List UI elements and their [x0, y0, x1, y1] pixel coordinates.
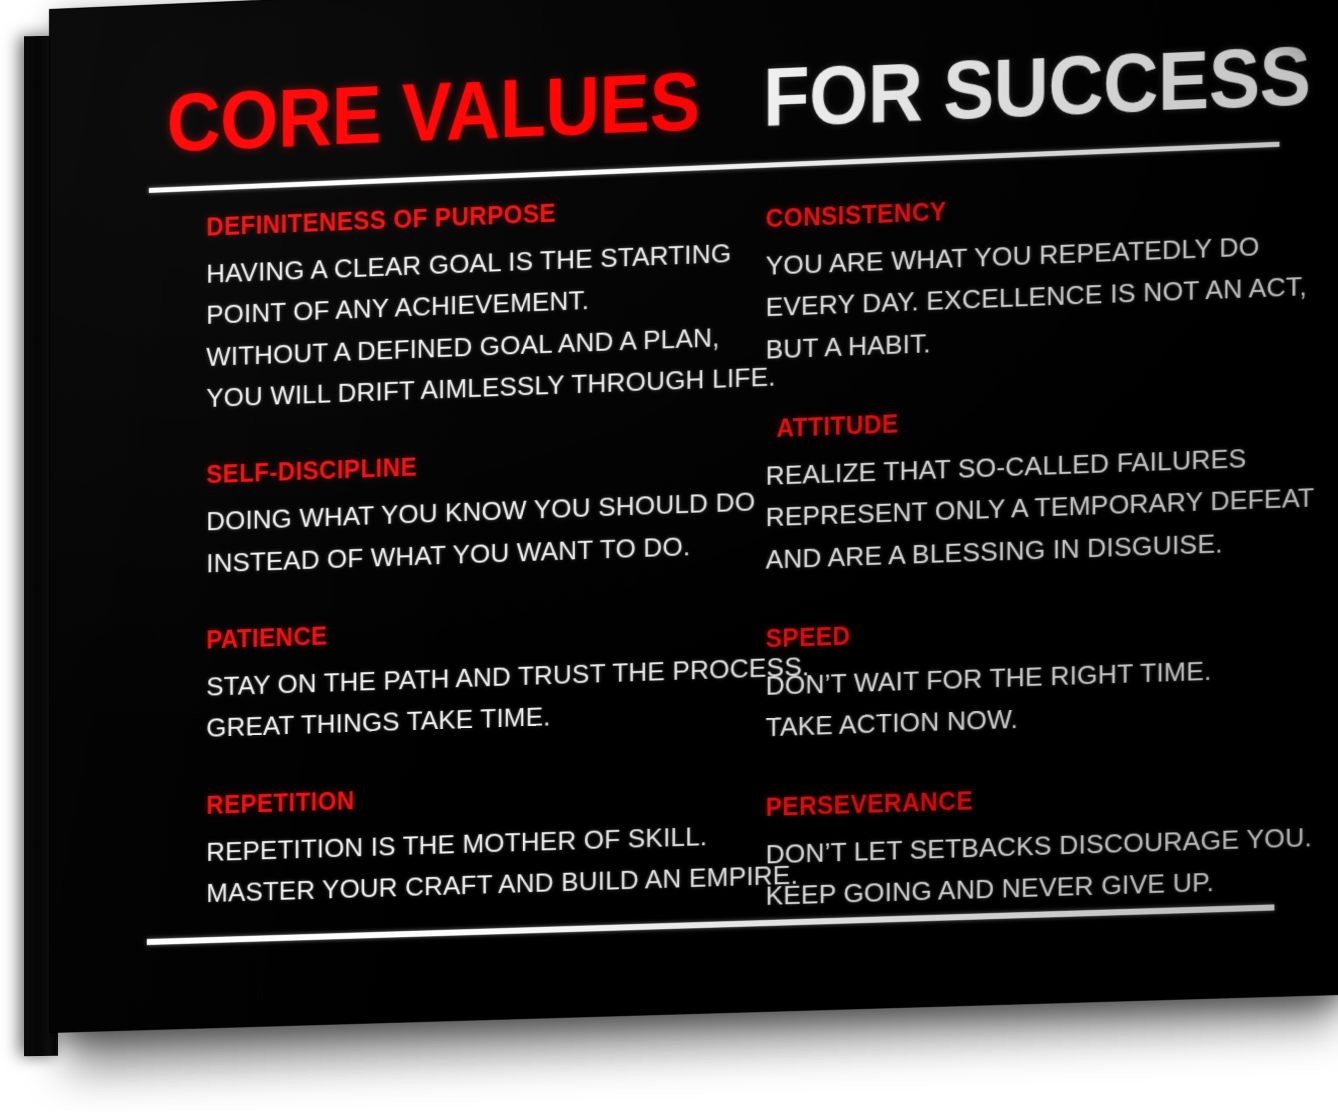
value-heading: PERSEVERANCE: [766, 776, 1295, 822]
value-heading: PATIENCE: [206, 611, 664, 656]
poster-content: CORE VALUESFOR SUCCESS DEFINITENESS OF P…: [50, 0, 1338, 1032]
value-section: CONSISTENCYYOU ARE WHAT YOU REPEATEDLY D…: [766, 183, 1311, 371]
value-heading: REPETITION: [206, 777, 664, 821]
poster-title: CORE VALUESFOR SUCCESS: [167, 36, 1288, 166]
column-left: DEFINITENESS OF PURPOSEHAVING A CLEAR GO…: [50, 194, 688, 983]
value-heading: SPEED: [766, 607, 1295, 655]
title-highlight: CORE VALUES: [167, 61, 700, 166]
value-heading: SELF-DISCIPLINE: [206, 444, 664, 490]
value-section: ATTITUDEREALIZE THAT SO-CALLED FAILURESR…: [766, 395, 1311, 581]
sections-grid: DEFINITENESS OF PURPOSEHAVING A CLEAR GO…: [50, 168, 1338, 983]
value-section: SELF-DISCIPLINEDOING WHAT YOU KNOW YOU S…: [206, 444, 678, 584]
value-section: PERSEVERANCEDON’T LET SETBACKS DISCOURAG…: [766, 776, 1311, 918]
value-section: PATIENCESTAY ON THE PATH AND TRUST THE P…: [206, 610, 678, 749]
title-rest: FOR SUCCESS: [746, 35, 1310, 142]
artwork-scene: CORE VALUESFOR SUCCESS DEFINITENESS OF P…: [0, 0, 1338, 1112]
canvas-print-face: CORE VALUESFOR SUCCESS DEFINITENESS OF P…: [50, 0, 1338, 1032]
value-section: DEFINITENESS OF PURPOSEHAVING A CLEAR GO…: [206, 195, 678, 420]
value-heading: ATTITUDE: [766, 395, 1295, 444]
value-section: REPETITIONREPETITION IS THE MOTHER OF SK…: [206, 776, 678, 914]
value-section: SPEEDDON’T WAIT FOR THE RIGHT TIME.TAKE …: [766, 606, 1311, 749]
column-right: CONSISTENCYYOU ARE WHAT YOU REPEATEDLY D…: [688, 168, 1337, 964]
value-heading: DEFINITENESS OF PURPOSE: [206, 195, 664, 243]
